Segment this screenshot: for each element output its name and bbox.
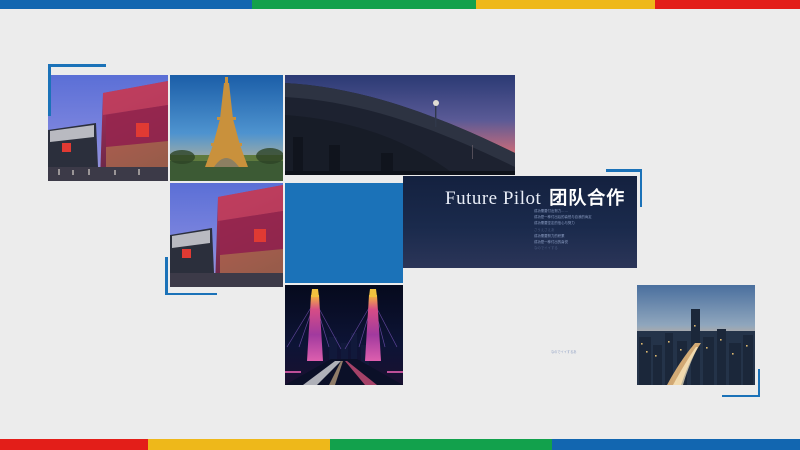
bracket-top-right [606, 169, 642, 207]
bottom-bar-segment-blue [552, 439, 800, 450]
photo-eiffel-tower[interactable] [170, 75, 283, 181]
panel-body-line: なのでイイする [534, 245, 634, 251]
bracket-top-right-vertical [640, 169, 643, 207]
suspension-bridge-image [285, 285, 403, 385]
bracket-bottom-right-horizontal [722, 395, 760, 398]
bracket-bottom-right [722, 369, 760, 397]
bottom-bar-segment-yellow [148, 439, 330, 450]
top-bar-segment-green [252, 0, 476, 9]
panel-title: Future Pilot 团队合作 [445, 184, 625, 210]
bracket-top-right-horizontal [606, 169, 642, 172]
bracket-top-left [48, 64, 106, 116]
bottom-bar-segment-green [330, 439, 552, 450]
title-english: Future Pilot [445, 188, 541, 210]
bracket-top-left-vertical [48, 64, 51, 116]
panel-caption: なのでイイするあ [551, 349, 577, 354]
top-bar-segment-yellow [476, 0, 655, 9]
panel-body-text: 成功需要付出努力…… 成功是一种付出后的喜悦与自我的肯定 成功需要坚定的信心与努… [534, 208, 634, 251]
elevated-highway-image [285, 75, 515, 175]
slide-canvas: Future Pilot 团队合作 成功需要付出努力…… 成功是一种付出后的喜悦… [0, 0, 800, 450]
solid-blue-block[interactable] [285, 183, 403, 283]
bracket-bottom-right-vertical [758, 369, 761, 397]
eiffel-tower-image [170, 75, 283, 181]
bracket-bottom-left-vertical [165, 257, 168, 295]
bottom-bar-segment-red [0, 439, 148, 450]
top-bar-segment-red [655, 0, 800, 9]
bird-glyph-3 [551, 268, 581, 295]
top-bar-segment-blue [0, 0, 252, 9]
future-pilot-title-panel[interactable]: Future Pilot 团队合作 成功需要付出努力…… 成功是一种付出后的喜悦… [403, 176, 637, 385]
bracket-bottom-left [165, 257, 217, 295]
photo-elevated-highway[interactable] [285, 75, 515, 175]
top-color-bar [0, 0, 800, 9]
bracket-top-left-horizontal [48, 64, 106, 67]
bottom-color-bar [0, 439, 800, 450]
bracket-bottom-left-horizontal [165, 293, 217, 296]
photo-suspension-bridge-night[interactable] [285, 285, 403, 385]
